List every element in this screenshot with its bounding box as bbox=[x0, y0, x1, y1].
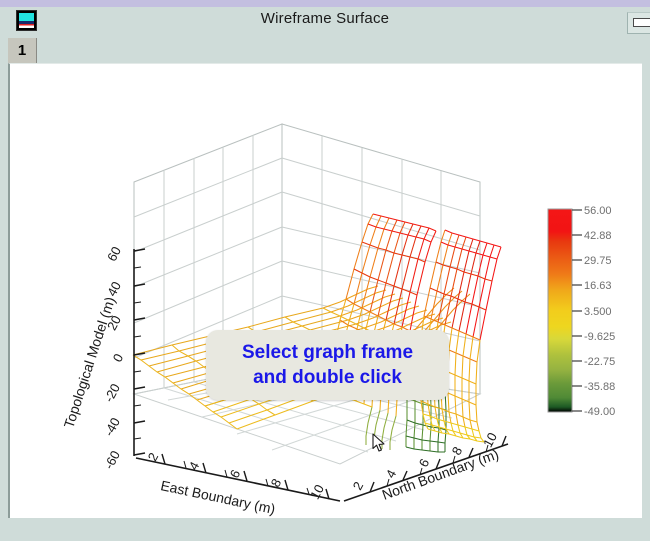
z-tick-0: 0 bbox=[110, 351, 127, 364]
window-title: Wireframe Surface bbox=[0, 10, 650, 27]
y-tick-2: 2 bbox=[350, 479, 367, 492]
hint-tooltip-line-1: Select graph frame bbox=[242, 340, 413, 365]
y-tick-8: 8 bbox=[449, 444, 466, 457]
hint-tooltip-line-2: and double click bbox=[253, 365, 402, 390]
layer-tab-strip: 1 bbox=[8, 38, 642, 63]
x-tick-10: 10 bbox=[307, 482, 327, 502]
z-axis-title: Topological Model (m) bbox=[60, 295, 118, 430]
z-tick-60: 60 bbox=[104, 244, 124, 264]
hint-tooltip: Select graph frame and double click bbox=[206, 330, 449, 400]
colorbar[interactable]: 56.00 42.88 29.75 16.63 3.500 -9.625 -22… bbox=[548, 205, 615, 418]
z-tick-m20: -20 bbox=[101, 381, 123, 405]
colorbar-tick-8: -49.00 bbox=[584, 406, 615, 418]
x-axis-title: East Boundary (m) bbox=[159, 477, 276, 517]
minimize-button[interactable] bbox=[627, 12, 650, 34]
graph-canvas[interactable]: 60 40 20 0 -20 -40 -60 Topological Model… bbox=[8, 63, 642, 518]
colorbar-tick-3: 16.63 bbox=[584, 280, 612, 292]
x-tick-8: 8 bbox=[268, 476, 285, 489]
surface-plot[interactable]: 60 40 20 0 -20 -40 -60 Topological Model… bbox=[10, 64, 642, 518]
y-tick-4: 4 bbox=[383, 467, 400, 480]
colorbar-tick-0: 56.00 bbox=[584, 205, 612, 217]
window-accent-bar bbox=[0, 0, 650, 7]
colorbar-tick-7: -35.88 bbox=[584, 381, 615, 393]
colorbar-tick-4: 3.500 bbox=[584, 306, 612, 318]
x-tick-4: 4 bbox=[186, 459, 203, 472]
minimize-icon bbox=[633, 18, 650, 27]
x-tick-2: 2 bbox=[145, 450, 162, 463]
y-tick-6: 6 bbox=[416, 456, 433, 469]
layer-tab-1[interactable]: 1 bbox=[8, 38, 37, 63]
colorbar-tick-6: -22.75 bbox=[584, 356, 615, 368]
title-bar[interactable]: Wireframe Surface bbox=[0, 7, 650, 37]
colorbar-tick-2: 29.75 bbox=[584, 255, 612, 267]
z-tick-m40: -40 bbox=[101, 415, 123, 439]
application-window: Wireframe Surface 1 bbox=[0, 0, 650, 541]
colorbar-tick-1: 42.88 bbox=[584, 230, 612, 242]
status-bar bbox=[0, 518, 650, 541]
colorbar-tick-5: -9.625 bbox=[584, 331, 615, 343]
z-axis: 60 40 20 0 -20 -40 -60 Topological Model… bbox=[60, 244, 145, 472]
z-tick-40: 40 bbox=[104, 279, 124, 299]
x-axis: 2 4 6 8 10 East Boundary (m) bbox=[136, 450, 340, 517]
mouse-pointer-icon bbox=[372, 433, 386, 453]
x-tick-6: 6 bbox=[227, 467, 244, 480]
z-tick-m60: -60 bbox=[101, 448, 123, 472]
